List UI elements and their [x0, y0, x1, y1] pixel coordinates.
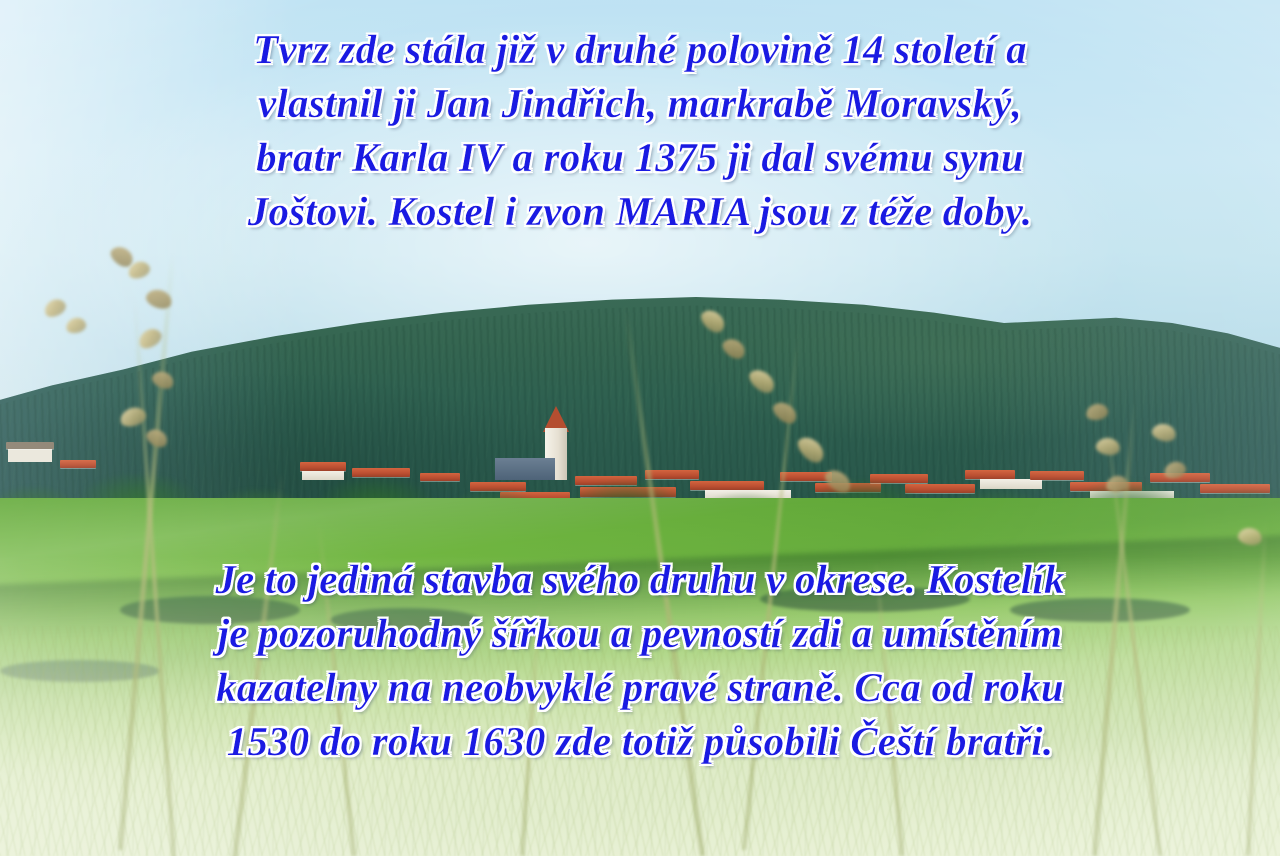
caption-top-line-4: Joštovi. Kostel i zvon MARIA jsou z téže…	[40, 184, 1240, 238]
caption-bottom: Je to jediná stavba svého druhu v okrese…	[0, 552, 1280, 768]
caption-bottom-line-1: Je to jediná stavba svého druhu v okrese…	[28, 552, 1252, 606]
caption-bottom-line-3: kazatelny na neobvyklé pravé straně. Cca…	[28, 660, 1252, 714]
caption-top-line-1: Tvrz zde stála již v druhé polovině 14 s…	[40, 22, 1240, 76]
caption-bottom-line-2: je pozoruhodný šířkou a pevností zdi a u…	[28, 606, 1252, 660]
caption-top-line-3: bratr Karla IV a roku 1375 ji dal svému …	[40, 130, 1240, 184]
caption-top-line-2: vlastnil ji Jan Jindřich, markrabě Morav…	[40, 76, 1240, 130]
caption-top: Tvrz zde stála již v druhé polovině 14 s…	[0, 22, 1280, 238]
poster-image: Tvrz zde stála již v druhé polovině 14 s…	[0, 0, 1280, 856]
caption-bottom-line-4: 1530 do roku 1630 zde totiž působili Češ…	[28, 714, 1252, 768]
